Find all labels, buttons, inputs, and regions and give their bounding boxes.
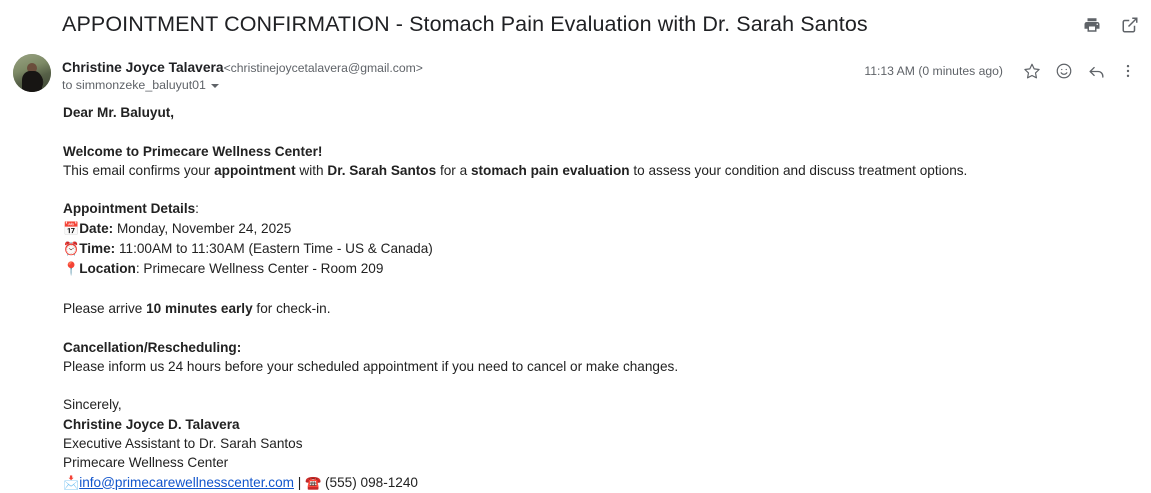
sincerely-line: Sincerely, bbox=[63, 395, 1103, 414]
signature-org: Primecare Wellness Center bbox=[63, 453, 1103, 472]
calendar-icon: 📅 bbox=[63, 222, 79, 237]
detail-date-row: 📅Date: Monday, November 24, 2025 bbox=[63, 219, 1103, 239]
phone-number: (555) 098-1240 bbox=[321, 475, 418, 490]
spacer bbox=[63, 180, 1103, 199]
telephone-icon: ☎️ bbox=[305, 476, 321, 491]
sender-info: Christine Joyce Talavera<christinejoycet… bbox=[62, 58, 423, 78]
details-heading: Appointment Details: bbox=[63, 199, 1103, 218]
cancellation-heading: Cancellation/Rescheduling: bbox=[63, 338, 1103, 357]
gmail-email-view: { "header": { "subject": "APPOINTMENT CO… bbox=[0, 0, 1151, 468]
location-label: Location bbox=[79, 261, 136, 276]
open-in-new-icon[interactable] bbox=[1117, 12, 1143, 38]
confirm-bold-evaluation: stomach pain evaluation bbox=[471, 163, 630, 178]
spacer bbox=[63, 318, 1103, 337]
more-options-icon[interactable] bbox=[1113, 56, 1143, 86]
add-reaction-icon[interactable] bbox=[1049, 56, 1079, 86]
location-value: : Primecare Wellness Center - Room 209 bbox=[136, 261, 384, 276]
cancellation-text: Please inform us 24 hours before your sc… bbox=[63, 357, 1103, 376]
arrive-text-2: for check-in. bbox=[253, 301, 331, 316]
contact-separator: | bbox=[294, 475, 305, 490]
spacer bbox=[63, 376, 1103, 395]
sender-email[interactable]: <christinejoycetalavera@gmail.com> bbox=[224, 61, 423, 75]
confirmation-line: This email confirms your appointment wit… bbox=[63, 161, 1103, 180]
reply-icon[interactable] bbox=[1081, 56, 1111, 86]
confirm-text-1: This email confirms your bbox=[63, 163, 214, 178]
header-action-buttons bbox=[1079, 12, 1143, 38]
date-label: Date: bbox=[79, 221, 113, 236]
detail-time-row: ⏰Time: 11:00AM to 11:30AM (Eastern Time … bbox=[63, 239, 1103, 259]
pushpin-icon: 📍 bbox=[63, 262, 79, 277]
email-link[interactable]: info@primecarewellnesscenter.com bbox=[79, 475, 294, 490]
subject-header: APPOINTMENT CONFIRMATION - Stomach Pain … bbox=[0, 0, 1151, 50]
date-value: Monday, November 24, 2025 bbox=[113, 221, 291, 236]
time-value: 11:00AM to 11:30AM (Eastern Time - US & … bbox=[115, 241, 433, 256]
recipient-label: to simmonzeke_baluyut01 bbox=[62, 78, 206, 92]
star-icon[interactable] bbox=[1017, 56, 1047, 86]
recipient-row[interactable]: to simmonzeke_baluyut01 bbox=[62, 78, 219, 92]
message-action-buttons: 11:13 AM (0 minutes ago) bbox=[864, 56, 1143, 86]
confirm-text-2: with bbox=[296, 163, 328, 178]
email-body: Dear Mr. Baluyut, Welcome to Primecare W… bbox=[63, 103, 1103, 493]
signature-contact-row: 📩info@primecarewellnesscenter.com | ☎️ (… bbox=[63, 473, 1103, 493]
details-heading-colon: : bbox=[195, 201, 199, 216]
confirm-bold-doctor: Dr. Sarah Santos bbox=[327, 163, 436, 178]
confirm-text-4: to assess your condition and discuss tre… bbox=[630, 163, 968, 178]
spacer bbox=[63, 280, 1103, 299]
envelope-icon: 📩 bbox=[63, 476, 79, 491]
sender-name[interactable]: Christine Joyce Talavera bbox=[62, 60, 224, 75]
arrive-bold: 10 minutes early bbox=[146, 301, 253, 316]
salutation: Dear Mr. Baluyut, bbox=[63, 103, 1103, 122]
time-label: Time: bbox=[79, 241, 115, 256]
arrive-text-1: Please arrive bbox=[63, 301, 146, 316]
chevron-down-icon[interactable] bbox=[211, 84, 219, 88]
spacer bbox=[63, 122, 1103, 141]
welcome-line: Welcome to Primecare Wellness Center! bbox=[63, 142, 1103, 161]
signature-name: Christine Joyce D. Talavera bbox=[63, 415, 1103, 434]
print-icon[interactable] bbox=[1079, 12, 1105, 38]
confirm-text-3: for a bbox=[436, 163, 471, 178]
alarm-clock-icon: ⏰ bbox=[63, 242, 79, 257]
arrive-early-line: Please arrive 10 minutes early for check… bbox=[63, 299, 1103, 318]
timestamp: 11:13 AM (0 minutes ago) bbox=[864, 64, 1003, 78]
detail-location-row: 📍Location: Primecare Wellness Center - R… bbox=[63, 259, 1103, 279]
confirm-bold-appointment: appointment bbox=[214, 163, 296, 178]
avatar-photo bbox=[13, 54, 51, 92]
page-title: APPOINTMENT CONFIRMATION - Stomach Pain … bbox=[62, 12, 868, 37]
avatar[interactable] bbox=[13, 54, 51, 92]
details-heading-label: Appointment Details bbox=[63, 201, 195, 216]
signature-title: Executive Assistant to Dr. Sarah Santos bbox=[63, 434, 1103, 453]
